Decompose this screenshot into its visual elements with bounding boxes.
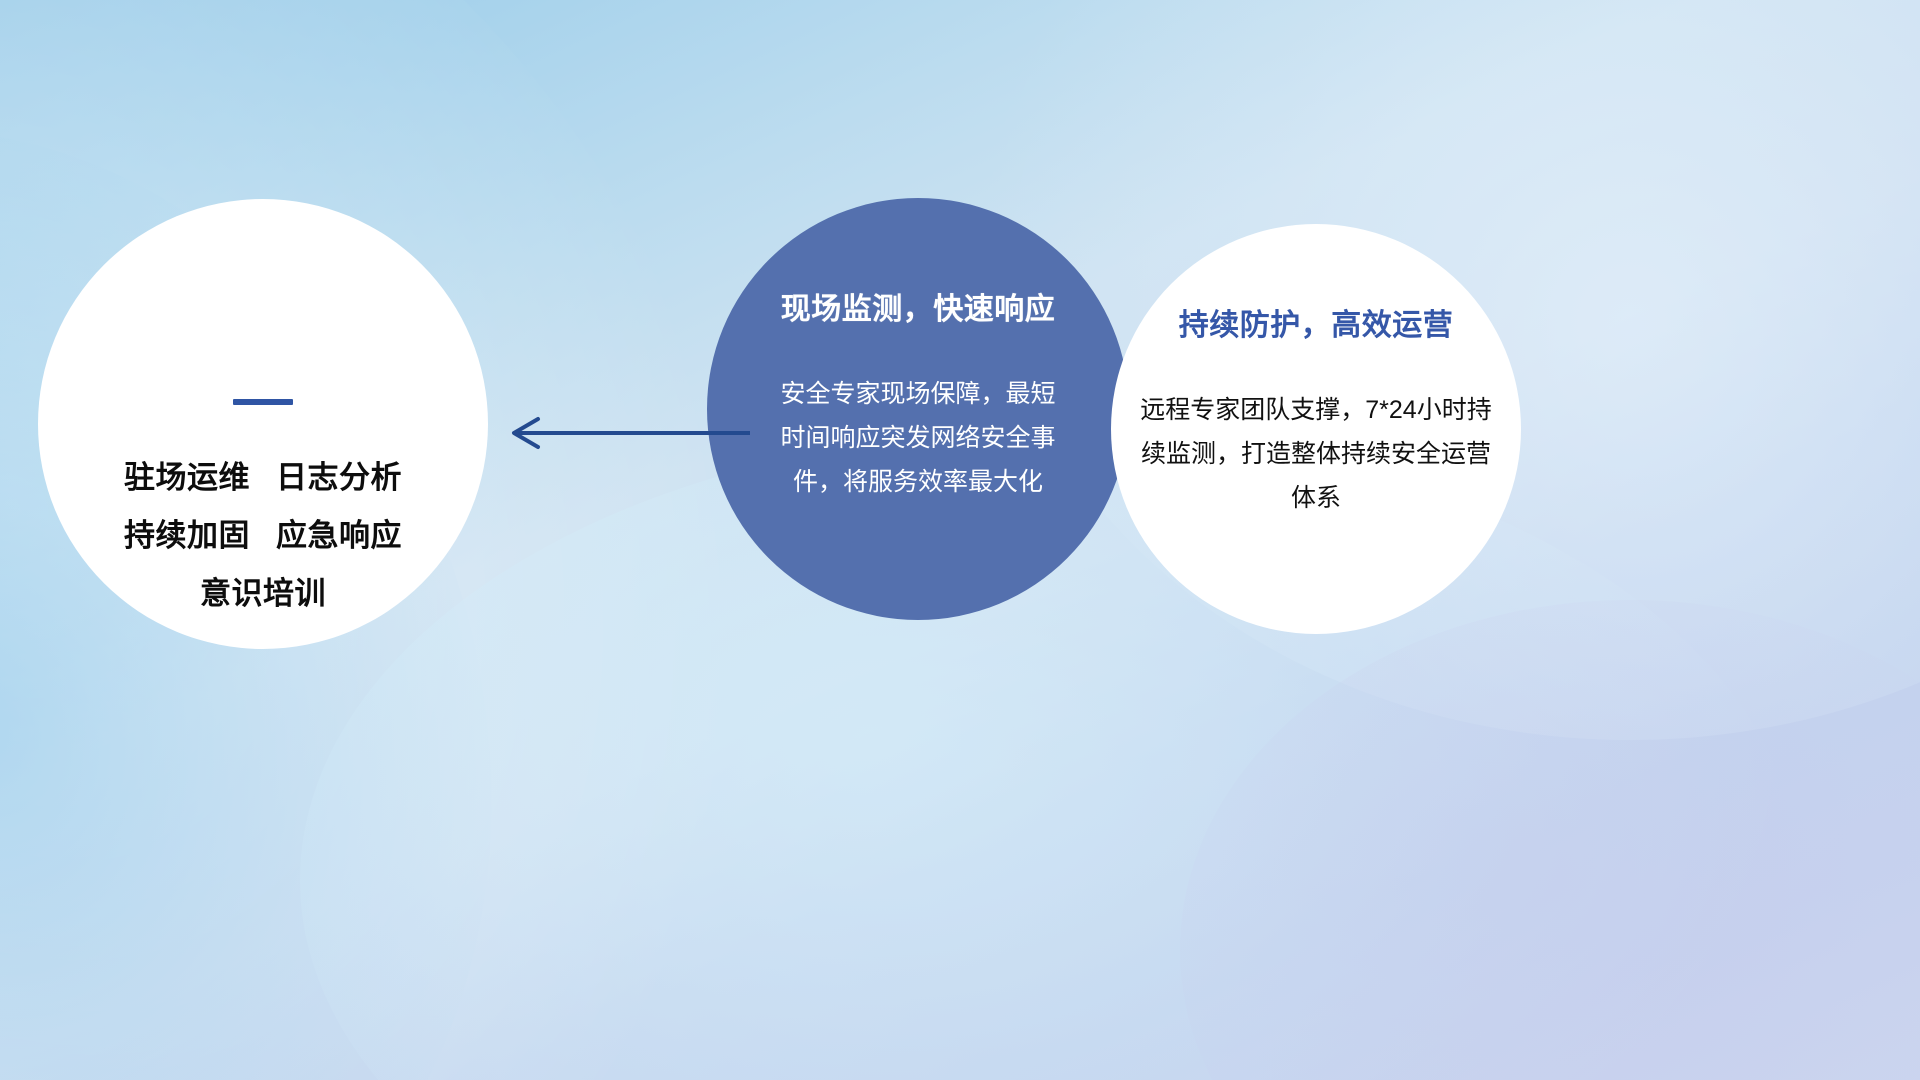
capability-keyword-list: 驻场运维日志分析 持续加固应急响应 意识培训: [38, 449, 488, 623]
right-circle-body: 远程专家团队支撑，7*24小时持续监测，打造整体持续安全运营体系: [1140, 388, 1492, 520]
left-capability-circle[interactable]: 驻场运维日志分析 持续加固应急响应 意识培训: [38, 199, 488, 649]
slide-canvas: 驻场运维日志分析 持续加固应急响应 意识培训 现场监测，快速响应 安全专家现场保…: [0, 0, 1920, 1080]
background-light-streak-bottom-right: [1180, 600, 1920, 1080]
keyword-label: 驻场运维: [124, 460, 250, 495]
keyword-label: 日志分析: [276, 460, 402, 495]
middle-circle-title: 现场监测，快速响应: [781, 284, 1056, 328]
list-item: 持续加固应急响应: [38, 507, 488, 565]
right-continuous-protection-circle[interactable]: 持续防护，高效运营 远程专家团队支撑，7*24小时持续监测，打造整体持续安全运营…: [1111, 224, 1521, 634]
list-item: 驻场运维日志分析: [38, 449, 488, 507]
list-item: 意识培训: [38, 565, 488, 623]
arrow-left-icon: [492, 415, 752, 451]
keyword-label: 持续加固: [124, 518, 250, 553]
keyword-label: 应急响应: [276, 518, 402, 553]
middle-onsite-monitoring-circle[interactable]: 现场监测，快速响应 安全专家现场保障，最短时间响应突发网络安全事件，将服务效率最…: [707, 198, 1129, 620]
right-circle-title: 持续防护，高效运营: [1179, 300, 1454, 344]
middle-circle-body: 安全专家现场保障，最短时间响应突发网络安全事件，将服务效率最大化: [775, 372, 1061, 504]
dash-divider-icon: [233, 399, 293, 405]
keyword-label: 意识培训: [200, 576, 326, 611]
